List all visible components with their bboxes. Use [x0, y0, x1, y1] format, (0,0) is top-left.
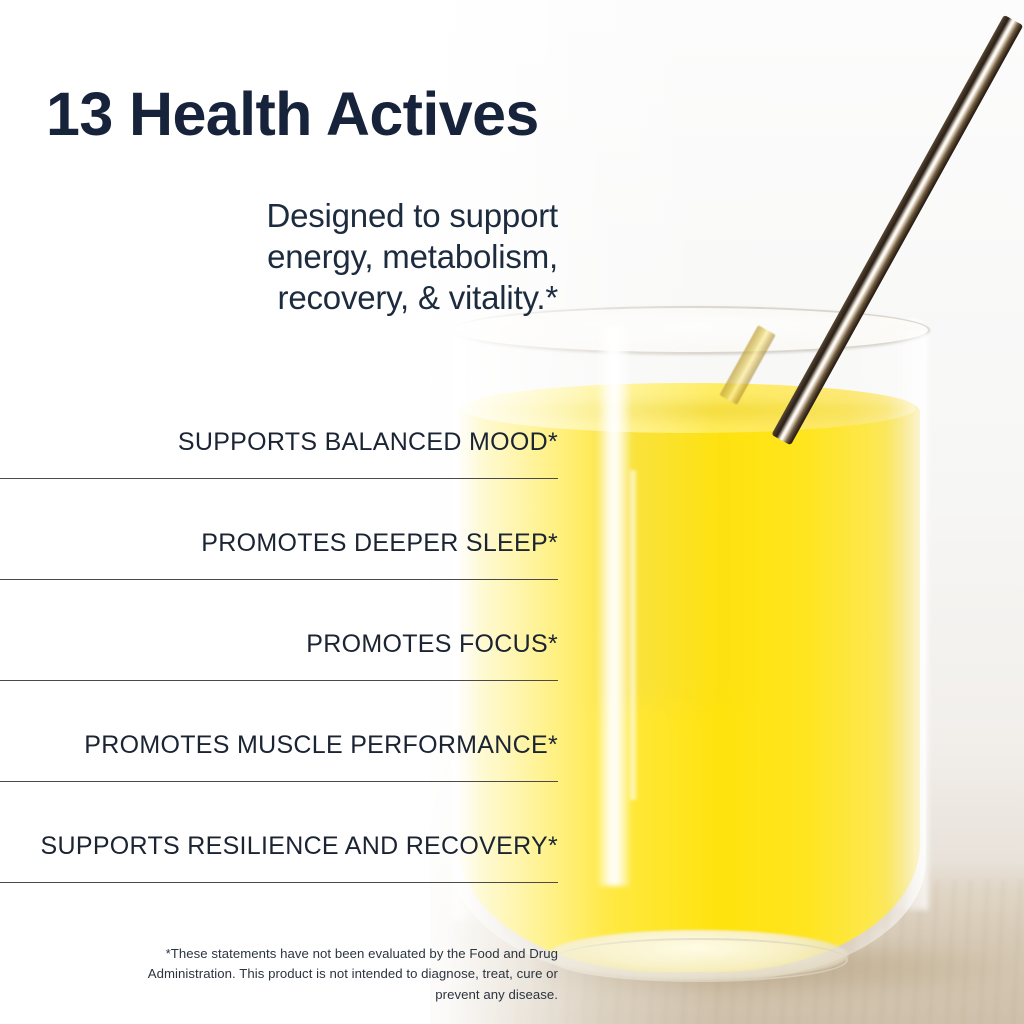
product-benefits-graphic: 13 Health Actives Designed to support en… [0, 0, 1024, 1024]
fda-disclaimer: *These statements have not been evaluate… [120, 944, 558, 1005]
benefit-item: SUPPORTS RESILIENCE AND RECOVERY* [0, 782, 558, 883]
benefit-label: PROMOTES FOCUS* [306, 630, 558, 659]
subheadline-line-1: Designed to support [140, 196, 558, 237]
benefit-label: SUPPORTS RESILIENCE AND RECOVERY* [41, 832, 558, 861]
subheadline-line-3: recovery, & vitality.* [140, 278, 558, 319]
benefit-label: PROMOTES MUSCLE PERFORMANCE* [84, 731, 558, 760]
benefit-divider [0, 882, 558, 883]
disclaimer-line-1: *These statements have not been evaluate… [120, 944, 558, 964]
disclaimer-line-3: prevent any disease. [120, 985, 558, 1005]
disclaimer-line-2: Administration. This product is not inte… [120, 964, 558, 984]
subheadline: Designed to support energy, metabolism, … [140, 196, 558, 319]
text-content: 13 Health Actives Designed to support en… [0, 0, 1024, 1024]
page-title: 13 Health Actives [46, 84, 558, 145]
benefit-item: PROMOTES FOCUS* [0, 580, 558, 681]
benefit-item: SUPPORTS BALANCED MOOD* [0, 378, 558, 479]
benefits-list: SUPPORTS BALANCED MOOD* PROMOTES DEEPER … [0, 378, 558, 883]
benefit-label: SUPPORTS BALANCED MOOD* [178, 428, 558, 457]
benefit-label: PROMOTES DEEPER SLEEP* [201, 529, 558, 558]
subheadline-line-2: energy, metabolism, [140, 237, 558, 278]
benefit-item: PROMOTES DEEPER SLEEP* [0, 479, 558, 580]
benefit-item: PROMOTES MUSCLE PERFORMANCE* [0, 681, 558, 782]
